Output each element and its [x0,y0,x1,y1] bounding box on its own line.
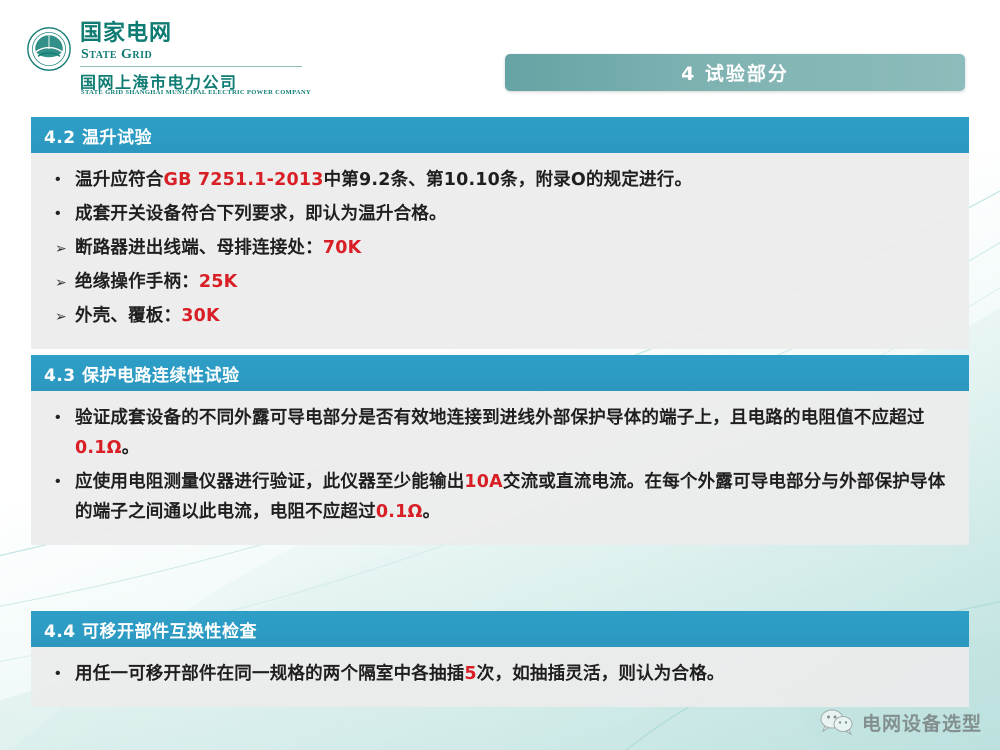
arrow-bullet-icon: ➢ [49,233,75,263]
bullet-item: •应使用电阻测量仪器进行验证，此仪器至少能输出10A交流或直流电流。在每个外露可… [49,467,951,527]
bullet-item: •温升应符合GB 7251.1-2013中第9.2条、第10.10条，附录O的规… [49,165,951,195]
bullet-item: •验证成套设备的不同外露可导电部分是否有效地连接到进线外部保护导体的端子上，且电… [49,403,951,463]
slide-title-bar: 4 试验部分 [505,54,965,91]
section-heading-bar: 4.4 可移开部件互换性检查 [31,611,969,647]
dot-bullet-icon: • [49,659,75,689]
highlighted-value: 25K [199,272,238,292]
bullet-item: •成套开关设备符合下列要求，即认为温升合格。 [49,199,951,229]
bullet-text-run: 断路器进出线端、母排连接处： [75,238,323,258]
bullet-text: 绝缘操作手柄：25K [75,267,951,297]
bullet-text-run: 。 [423,502,441,522]
section-heading-text: 4.4 可移开部件互换性检查 [44,617,257,642]
bullet-text-run: 。 [122,438,140,458]
bullet-text-run: 应使用电阻测量仪器进行验证，此仪器至少能输出 [75,472,464,492]
bullet-item: ➢绝缘操作手柄：25K [49,267,951,297]
highlighted-value: GB 7251.1-2013 [164,170,324,190]
highlighted-value: 30K [181,306,220,326]
bullet-text-run: 温升应符合 [75,170,164,190]
bullet-text-run: 用任一可移开部件在同一规格的两个隔室中各抽插 [75,664,464,684]
highlighted-value: 0.1Ω [376,502,423,522]
highlighted-value: 70K [323,238,362,258]
bullet-text-run: 成套开关设备符合下列要求，即认为温升合格。 [75,204,447,224]
brand-name-en: State Grid [81,47,152,63]
section-heading-bar: 4.2 温升试验 [31,117,969,153]
arrow-bullet-icon: ➢ [49,301,75,331]
highlighted-value: 10A [464,472,503,492]
watermark-text: 电网设备选型 [862,709,982,736]
bullet-text: 应使用电阻测量仪器进行验证，此仪器至少能输出10A交流或直流电流。在每个外露可导… [75,467,951,527]
bullet-text-run: 中第9.2条、第10.10条，附录O的规定进行。 [324,170,693,190]
bullet-text-run: 次，如抽插灵活，则认为合格。 [477,664,725,684]
bullet-text-run: 绝缘操作手柄： [75,272,199,292]
brand-subsidiary-en: STATE GRID SHANGHAI MUNICIPAL ELECTRIC P… [81,89,311,96]
state-grid-logo-icon [26,26,72,72]
slide-title: 4 试验部分 [681,59,789,86]
section-1: 4.2 温升试验•温升应符合GB 7251.1-2013中第9.2条、第10.1… [31,117,969,349]
slide-canvas: 国家电网 State Grid 国网上海市电力公司 STATE GRID SHA… [0,0,1000,750]
brand-divider [80,66,302,67]
bullet-text: 用任一可移开部件在同一规格的两个隔室中各抽插5次，如抽插灵活，则认为合格。 [75,659,951,689]
brand-logo-block: 国家电网 State Grid 国网上海市电力公司 STATE GRID SHA… [24,18,324,96]
bullet-text: 验证成套设备的不同外露可导电部分是否有效地连接到进线外部保护导体的端子上，且电路… [75,403,951,463]
bullet-text: 温升应符合GB 7251.1-2013中第9.2条、第10.10条，附录O的规定… [75,165,951,195]
dot-bullet-icon: • [49,165,75,195]
highlighted-value: 0.1Ω [75,438,122,458]
bullet-item: •用任一可移开部件在同一规格的两个隔室中各抽插5次，如抽插灵活，则认为合格。 [49,659,951,689]
section-2: 4.3 保护电路连续性试验•验证成套设备的不同外露可导电部分是否有效地连接到进线… [31,355,969,545]
section-body: •验证成套设备的不同外露可导电部分是否有效地连接到进线外部保护导体的端子上，且电… [31,391,969,545]
footer-watermark: 电网设备选型 [820,708,982,736]
bullet-text: 外壳、覆板：30K [75,301,951,331]
section-3: 4.4 可移开部件互换性检查•用任一可移开部件在同一规格的两个隔室中各抽插5次，… [31,611,969,707]
section-heading-bar: 4.3 保护电路连续性试验 [31,355,969,391]
section-body: •用任一可移开部件在同一规格的两个隔室中各抽插5次，如抽插灵活，则认为合格。 [31,647,969,707]
bullet-text: 断路器进出线端、母排连接处：70K [75,233,951,263]
bullet-item: ➢外壳、覆板：30K [49,301,951,331]
bullet-text-run: 外壳、覆板： [75,306,181,326]
dot-bullet-icon: • [49,199,75,229]
brand-name-cn: 国家电网 [80,22,172,45]
section-heading-text: 4.3 保护电路连续性试验 [44,361,240,386]
section-body: •温升应符合GB 7251.1-2013中第9.2条、第10.10条，附录O的规… [31,153,969,349]
dot-bullet-icon: • [49,403,75,433]
highlighted-value: 5 [464,664,476,684]
bullet-text: 成套开关设备符合下列要求，即认为温升合格。 [75,199,951,229]
section-heading-text: 4.2 温升试验 [44,123,152,148]
arrow-bullet-icon: ➢ [49,267,75,297]
dot-bullet-icon: • [49,467,75,497]
wechat-icon [820,708,854,736]
bullet-text-run: 验证成套设备的不同外露可导电部分是否有效地连接到进线外部保护导体的端子上，且电路… [75,408,925,428]
bullet-item: ➢断路器进出线端、母排连接处：70K [49,233,951,263]
